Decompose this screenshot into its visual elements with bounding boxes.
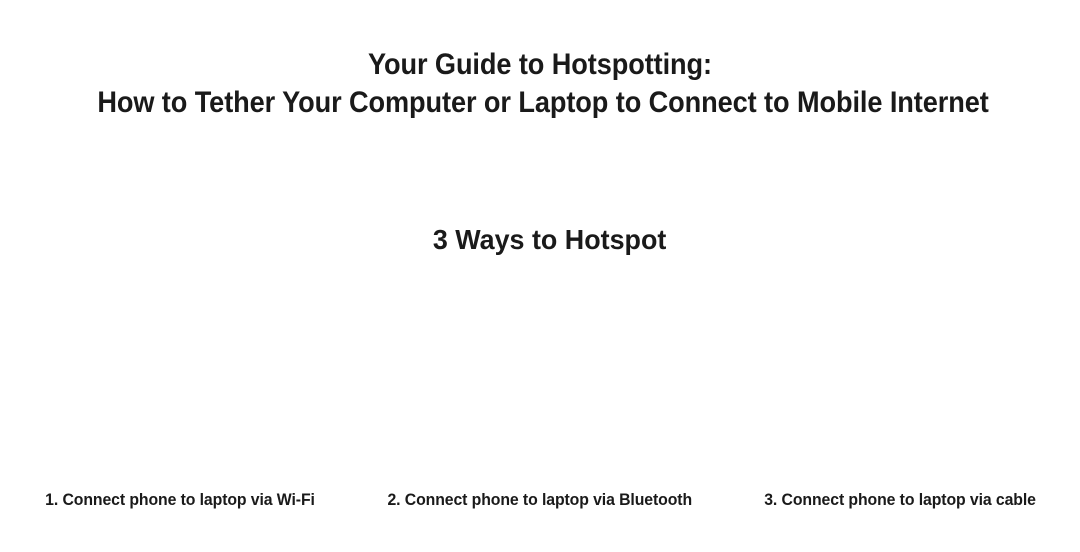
illustration-slot-cable [720, 280, 1080, 480]
illustration-slot-wifi [0, 280, 360, 480]
caption-cell-bluetooth: 2. Connect phone to laptop via Bluetooth [360, 486, 720, 514]
page-title-line-1: Your Guide to Hotspotting: [51, 46, 1028, 84]
caption-method-2: 2. Connect phone to laptop via Bluetooth [388, 489, 693, 511]
page-title: Your Guide to Hotspotting: How to Tether… [0, 46, 1080, 122]
section-heading: 3 Ways to Hotspot [0, 222, 1080, 258]
page-title-line-2: How to Tether Your Computer or Laptop to… [57, 84, 1029, 122]
illustration-slot-bluetooth [360, 280, 720, 480]
section-heading-label: 3 Ways to Hotspot [433, 222, 666, 258]
infographic-page: Your Guide to Hotspotting: How to Tether… [0, 0, 1080, 552]
captions-row: 1. Connect phone to laptop via Wi-Fi 2. … [0, 486, 1080, 514]
caption-cell-wifi: 1. Connect phone to laptop via Wi-Fi [0, 486, 360, 514]
caption-method-3: 3. Connect phone to laptop via cable [764, 489, 1036, 511]
illustration-band [0, 280, 1080, 480]
caption-cell-cable: 3. Connect phone to laptop via cable [720, 486, 1080, 514]
caption-method-1: 1. Connect phone to laptop via Wi-Fi [45, 489, 315, 511]
